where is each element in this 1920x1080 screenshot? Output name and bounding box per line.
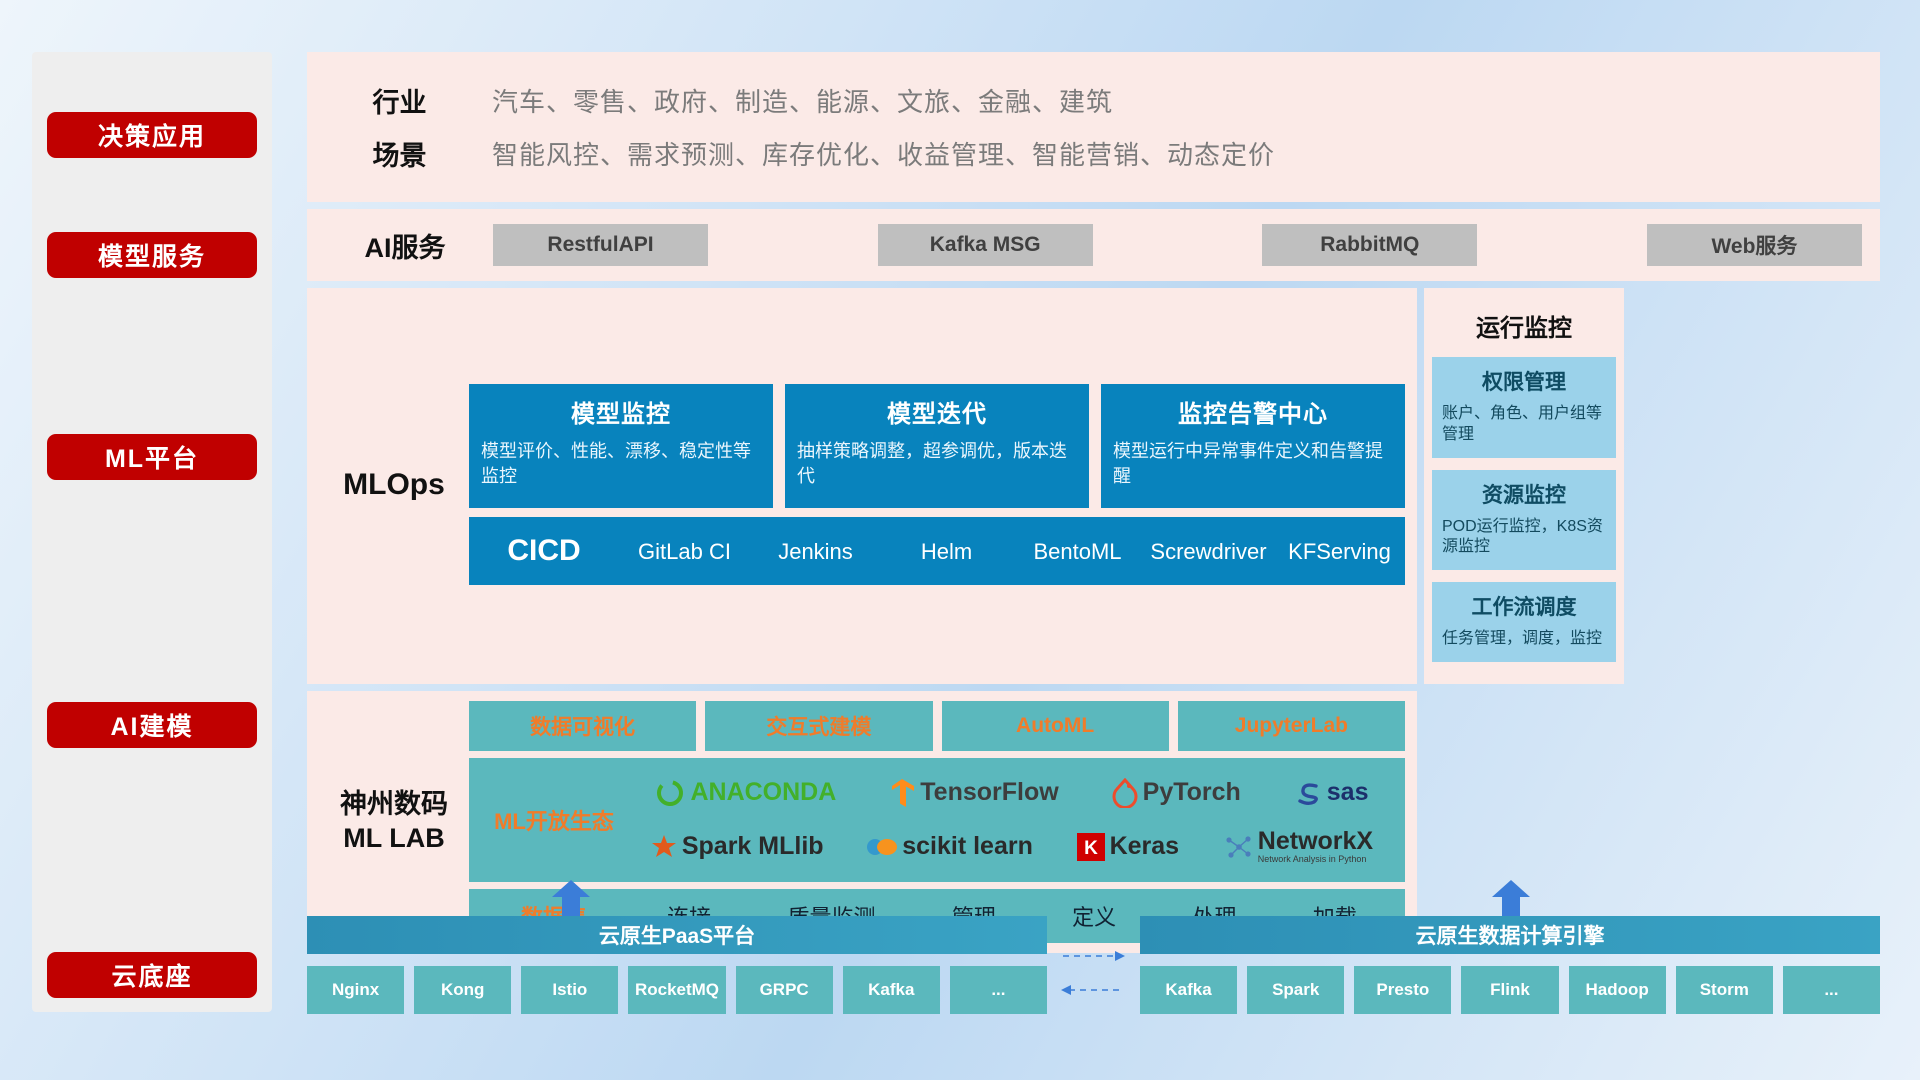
industry-value: 汽车、零售、政府、制造、能源、文旅、金融、建筑 [492, 82, 1113, 119]
tab-jupyterlab[interactable]: JupyterLab [1178, 701, 1405, 751]
scenario-value: 智能风控、需求预测、库存优化、收益管理、智能营销、动态定价 [492, 135, 1275, 172]
sas-label: sas [1327, 778, 1369, 807]
chip-kong[interactable]: Kong [414, 966, 511, 1014]
anaconda-label: ANACONDA [690, 778, 836, 807]
card-desc: POD运行监控，K8S资源监控 [1442, 517, 1606, 559]
service-restful-api[interactable]: RestfulAPI [493, 224, 708, 266]
spark-icon [651, 834, 677, 860]
card-desc: 抽样策略调整，超参调优，版本迭代 [797, 439, 1077, 488]
sas-logo: sas [1294, 778, 1369, 807]
scenario-row: 场景 智能风控、需求预测、库存优化、收益管理、智能营销、动态定价 [307, 127, 1880, 180]
mlops-card-model-monitor[interactable]: 模型监控 模型评价、性能、漂移、稳定性等监控 [469, 384, 773, 508]
service-web[interactable]: Web服务 [1647, 224, 1862, 266]
ml-lab-tab-list: 数据可视化 交互式建模 AutoML JupyterLab [469, 701, 1405, 751]
networkx-label: NetworkX [1258, 829, 1373, 854]
cloud-foundation: 云原生PaaS平台 Nginx Kong Istio RocketMQ GRPC… [307, 880, 1880, 1014]
mlops-card-model-iteration[interactable]: 模型迭代 抽样策略调整，超参调优，版本迭代 [785, 384, 1089, 508]
pytorch-label: PyTorch [1143, 778, 1241, 807]
monitor-card-permission[interactable]: 权限管理 账户、角色、用户组等管理 [1432, 357, 1616, 458]
ai-service-list: RestfulAPI Kafka MSG RabbitMQ Web服务 [485, 224, 1862, 266]
rail-item-model-service[interactable]: 模型服务 [47, 232, 257, 278]
rail-item-cloud-base[interactable]: 云底座 [47, 952, 257, 998]
chip-flink[interactable]: Flink [1461, 966, 1558, 1014]
data-engine-column: 云原生数据计算引擎 Kafka Spark Presto Flink Hadoo… [1140, 916, 1880, 1014]
svg-text:K: K [1084, 838, 1098, 859]
cicd-item-bentoml[interactable]: BentoML [1012, 539, 1143, 564]
up-arrow-left [552, 880, 590, 916]
tensorflow-logo: TensorFlow [889, 778, 1058, 808]
scikit-learn-logo: scikit learn [867, 832, 1033, 861]
main-column: 行业 汽车、零售、政府、制造、能源、文旅、金融、建筑 场景 智能风控、需求预测、… [307, 52, 1880, 953]
spark-mllib-label: Spark MLlib [682, 832, 824, 861]
industry-row: 行业 汽车、零售、政府、制造、能源、文旅、金融、建筑 [307, 74, 1880, 127]
chip-hadoop[interactable]: Hadoop [1569, 966, 1666, 1014]
card-title: 模型监控 [481, 394, 761, 429]
mlops-band: MLOps 模型监控 模型评价、性能、漂移、稳定性等监控 模型迭代 抽样策略调整… [307, 288, 1417, 684]
logo-row-1: ANACONDA TensorFlow [629, 766, 1395, 820]
scenario-key: 场景 [307, 134, 492, 173]
ml-platform-row: MLOps 模型监控 模型评价、性能、漂移、稳定性等监控 模型迭代 抽样策略调整… [307, 288, 1880, 684]
card-desc: 账户、角色、用户组等管理 [1442, 404, 1606, 446]
runtime-monitor-title: 运行监控 [1432, 298, 1616, 357]
industry-key: 行业 [307, 81, 492, 120]
cicd-item-gitlab-ci[interactable]: GitLab CI [619, 539, 750, 564]
card-title: 权限管理 [1442, 366, 1606, 396]
keras-logo: K Keras [1077, 832, 1180, 861]
up-arrow-right [1492, 880, 1530, 916]
networkx-logo: NetworkX Network Analysis in Python [1223, 829, 1373, 864]
cicd-item-screwdriver[interactable]: Screwdriver [1143, 539, 1274, 564]
anaconda-icon [655, 778, 685, 808]
paas-platform-header: 云原生PaaS平台 [307, 916, 1047, 954]
networkx-sublabel: Network Analysis in Python [1258, 854, 1373, 864]
cicd-item-helm[interactable]: Helm [881, 539, 1012, 564]
keras-label: Keras [1110, 832, 1180, 861]
chip-istio[interactable]: Istio [521, 966, 618, 1014]
card-title: 工作流调度 [1442, 591, 1606, 621]
spark-mllib-logo: Spark MLlib [651, 832, 824, 861]
card-title: 资源监控 [1442, 479, 1606, 509]
rail-item-ml-platform[interactable]: ML平台 [47, 434, 257, 480]
logo-grid: ANACONDA TensorFlow [629, 766, 1395, 874]
chip-nginx[interactable]: Nginx [307, 966, 404, 1014]
chip-kafka-paas[interactable]: Kafka [843, 966, 940, 1014]
ml-lab-label-line1: 神州数码 [319, 788, 469, 822]
chip-more-engine[interactable]: ... [1783, 966, 1880, 1014]
service-kafka-msg[interactable]: Kafka MSG [878, 224, 1093, 266]
ml-lab-label: 神州数码 ML LAB [319, 788, 469, 856]
chip-grpc[interactable]: GRPC [736, 966, 833, 1014]
mlops-label: MLOps [319, 468, 469, 502]
ml-open-ecosystem: ML开放生态 ANACONDA [469, 758, 1405, 882]
card-title: 模型迭代 [797, 394, 1077, 429]
bidirectional-link [1059, 938, 1127, 1010]
service-rabbitmq[interactable]: RabbitMQ [1262, 224, 1477, 266]
paas-chip-row: Nginx Kong Istio RocketMQ GRPC Kafka ... [307, 966, 1047, 1014]
chip-storm[interactable]: Storm [1676, 966, 1773, 1014]
ml-lab-label-line2: ML LAB [319, 822, 469, 856]
anaconda-logo: ANACONDA [655, 778, 836, 808]
monitor-card-workflow[interactable]: 工作流调度 任务管理，调度，监控 [1432, 582, 1616, 662]
mlops-content: 模型监控 模型评价、性能、漂移、稳定性等监控 模型迭代 抽样策略调整，超参调优，… [469, 384, 1405, 585]
layer-rail: 决策应用 模型服务 ML平台 AI建模 云底座 [32, 52, 272, 1012]
data-engine-header: 云原生数据计算引擎 [1140, 916, 1880, 954]
arrow-row [307, 880, 1880, 916]
card-desc: 模型评价、性能、漂移、稳定性等监控 [481, 439, 761, 488]
runtime-monitor-column: 运行监控 权限管理 账户、角色、用户组等管理 资源监控 POD运行监控，K8S资… [1424, 288, 1624, 684]
card-desc: 模型运行中异常事件定义和告警提醒 [1113, 439, 1393, 488]
cicd-bar: CICD GitLab CI Jenkins Helm BentoML Scre… [469, 517, 1405, 585]
industry-scenario-band: 行业 汽车、零售、政府、制造、能源、文旅、金融、建筑 场景 智能风控、需求预测、… [307, 52, 1880, 202]
data-engine-chip-row: Kafka Spark Presto Flink Hadoop Storm ..… [1140, 966, 1880, 1014]
chip-kafka-engine[interactable]: Kafka [1140, 966, 1237, 1014]
ml-eco-label: ML开放生态 [479, 804, 629, 836]
chip-more-paas[interactable]: ... [950, 966, 1047, 1014]
cicd-item-jenkins[interactable]: Jenkins [750, 539, 881, 564]
cicd-item-kfserving[interactable]: KFServing [1274, 539, 1405, 564]
keras-icon: K [1077, 833, 1105, 861]
monitor-card-resource[interactable]: 资源监控 POD运行监控，K8S资源监控 [1432, 470, 1616, 571]
ai-service-band: AI服务 RestfulAPI Kafka MSG RabbitMQ Web服务 [307, 209, 1880, 281]
rail-item-decision-app[interactable]: 决策应用 [47, 112, 257, 158]
chip-rocketmq[interactable]: RocketMQ [628, 966, 725, 1014]
chip-presto[interactable]: Presto [1354, 966, 1451, 1014]
card-desc: 任务管理，调度，监控 [1442, 629, 1606, 650]
tab-automl[interactable]: AutoML [942, 701, 1169, 751]
scikit-learn-label: scikit learn [902, 832, 1033, 861]
cicd-label: CICD [469, 534, 619, 568]
rail-item-ai-modeling[interactable]: AI建模 [47, 702, 257, 748]
paas-platform-column: 云原生PaaS平台 Nginx Kong Istio RocketMQ GRPC… [307, 916, 1047, 1014]
tensorflow-icon [889, 778, 915, 808]
pytorch-icon [1112, 778, 1138, 808]
tensorflow-label: TensorFlow [920, 778, 1058, 807]
mlops-card-list: 模型监控 模型评价、性能、漂移、稳定性等监控 模型迭代 抽样策略调整，超参调优，… [469, 384, 1405, 508]
tab-interactive-modeling[interactable]: 交互式建模 [705, 701, 932, 751]
sas-icon [1294, 779, 1322, 807]
scikit-learn-icon [867, 834, 897, 860]
pytorch-logo: PyTorch [1112, 778, 1241, 808]
architecture-diagram: 决策应用 模型服务 ML平台 AI建模 云底座 行业 汽车、零售、政府、制造、能… [0, 0, 1920, 1080]
networkx-icon [1223, 833, 1253, 861]
ai-service-label: AI服务 [325, 226, 485, 265]
logo-row-2: Spark MLlib scikit learn [629, 820, 1395, 874]
tab-data-visualization[interactable]: 数据可视化 [469, 701, 696, 751]
card-title: 监控告警中心 [1113, 394, 1393, 429]
mlops-card-alert-center[interactable]: 监控告警中心 模型运行中异常事件定义和告警提醒 [1101, 384, 1405, 508]
chip-spark[interactable]: Spark [1247, 966, 1344, 1014]
